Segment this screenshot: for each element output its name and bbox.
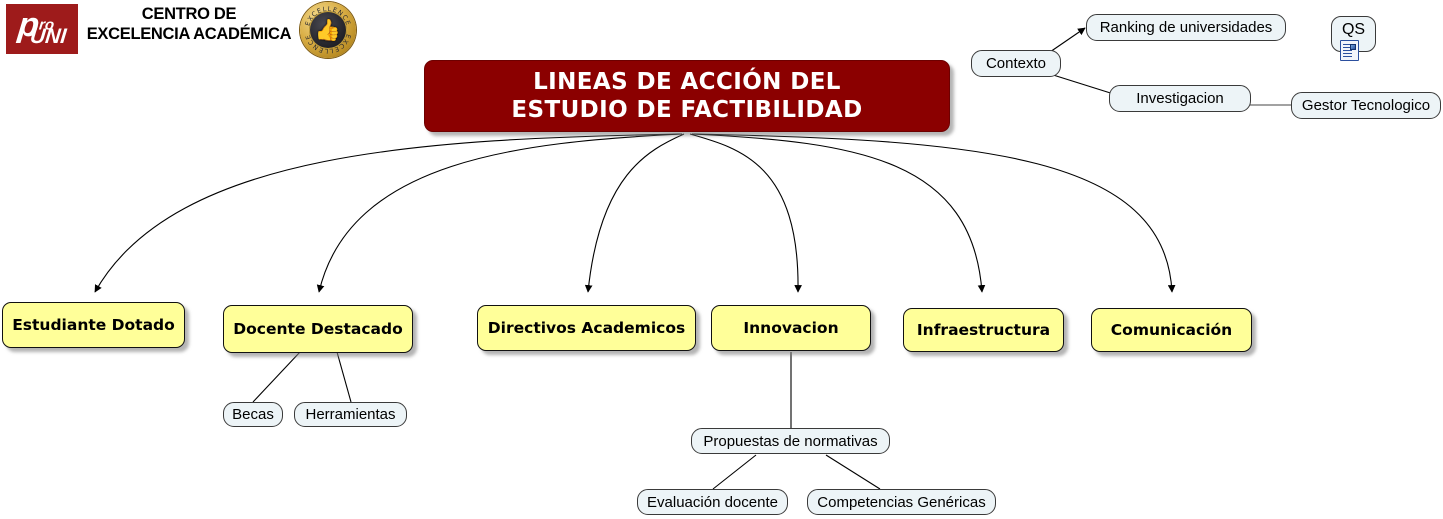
- branch-label: Estudiante Dotado: [12, 316, 175, 334]
- branch-label: Directivos Academicos: [488, 319, 685, 337]
- leaf-label: Investigacion: [1136, 90, 1224, 107]
- prouni-logo-text: pro UNI: [15, 12, 70, 45]
- branch-label: Innovacion: [743, 319, 838, 337]
- organization-title-line2: EXCELENCIA ACADÉMICA: [84, 24, 294, 44]
- edge-docente-to-herramientas: [337, 352, 351, 402]
- leaf-label: Gestor Tecnologico: [1302, 97, 1430, 114]
- qs-label: QS: [1342, 21, 1365, 39]
- leaf-node-propuestas-normativas[interactable]: Propuestas de normativas: [691, 428, 890, 454]
- organization-title: CENTRO DE EXCELENCIA ACADÉMICA: [84, 4, 294, 44]
- leaf-label: Competencias Genéricas: [817, 494, 985, 511]
- leaf-node-contexto[interactable]: Contexto: [971, 50, 1061, 77]
- medal-inner-disc: 👍: [309, 11, 347, 49]
- edge-title-to-estudiante: [95, 134, 680, 292]
- branch-label: Docente Destacado: [233, 320, 402, 338]
- leaf-node-herramientas[interactable]: Herramientas: [294, 402, 407, 427]
- leaf-node-competencias-genericas[interactable]: Competencias Genéricas: [807, 489, 996, 515]
- main-title-line1: LINEAS DE ACCIÓN DEL: [511, 68, 862, 96]
- edge-title-to-infraestructura: [692, 134, 982, 292]
- branch-label: Comunicación: [1111, 321, 1232, 339]
- organization-title-line1: CENTRO DE: [84, 4, 294, 24]
- thumbs-up-icon: 👍: [315, 20, 341, 41]
- leaf-node-ranking-universidades[interactable]: Ranking de universidades: [1086, 14, 1286, 41]
- branch-node-directivos-academicos[interactable]: Directivos Academicos: [477, 305, 696, 351]
- logo-letters-uni: UNI: [30, 28, 68, 45]
- edge-title-to-directivos: [588, 134, 684, 292]
- main-title-node[interactable]: LINEAS DE ACCIÓN DEL ESTUDIO DE FACTIBIL…: [424, 60, 950, 132]
- main-title-line2: ESTUDIO DE FACTIBILIDAD: [511, 96, 862, 124]
- branch-node-docente-destacado[interactable]: Docente Destacado: [223, 305, 413, 353]
- edge-title-to-docente: [319, 134, 682, 292]
- leaf-label: Ranking de universidades: [1100, 19, 1273, 36]
- leaf-label: Becas: [232, 406, 274, 423]
- leaf-label: Evaluación docente: [647, 494, 778, 511]
- edge-title-to-innovacion: [690, 134, 798, 292]
- prouni-logo: pro UNI: [6, 4, 78, 54]
- document-icon-thumbnail: [1350, 44, 1356, 50]
- leaf-node-evaluacion-docente[interactable]: Evaluación docente: [637, 489, 788, 515]
- branch-label: Infraestructura: [917, 321, 1050, 339]
- leaf-node-gestor-tecnologico[interactable]: Gestor Tecnologico: [1291, 92, 1441, 119]
- leaf-label: Propuestas de normativas: [703, 433, 877, 450]
- edge-title-to-comunicacion: [694, 134, 1172, 292]
- leaf-node-investigacion[interactable]: Investigacion: [1109, 85, 1251, 112]
- edge-docente-to-becas: [253, 352, 300, 402]
- leaf-node-becas[interactable]: Becas: [223, 402, 283, 427]
- edge-propuestas-to-competencias: [826, 455, 880, 489]
- diagram-canvas: pro UNI CENTRO DE EXCELENCIA ACADÉMICA E…: [0, 0, 1443, 519]
- branch-node-innovacion[interactable]: Innovacion: [711, 305, 871, 351]
- document-icon[interactable]: [1340, 40, 1359, 61]
- branch-node-estudiante-dotado[interactable]: Estudiante Dotado: [2, 302, 185, 348]
- leaf-label: Contexto: [986, 55, 1046, 72]
- leaf-label: Herramientas: [305, 406, 395, 423]
- edge-propuestas-to-evaluacion: [713, 455, 756, 489]
- excellence-medal-icon: EXCELLENCE EXCELLENCE 👍: [300, 2, 356, 58]
- edge-contexto-to-ranking: [1050, 28, 1085, 52]
- branch-node-infraestructura[interactable]: Infraestructura: [903, 308, 1064, 352]
- branch-node-comunicacion[interactable]: Comunicación: [1091, 308, 1252, 352]
